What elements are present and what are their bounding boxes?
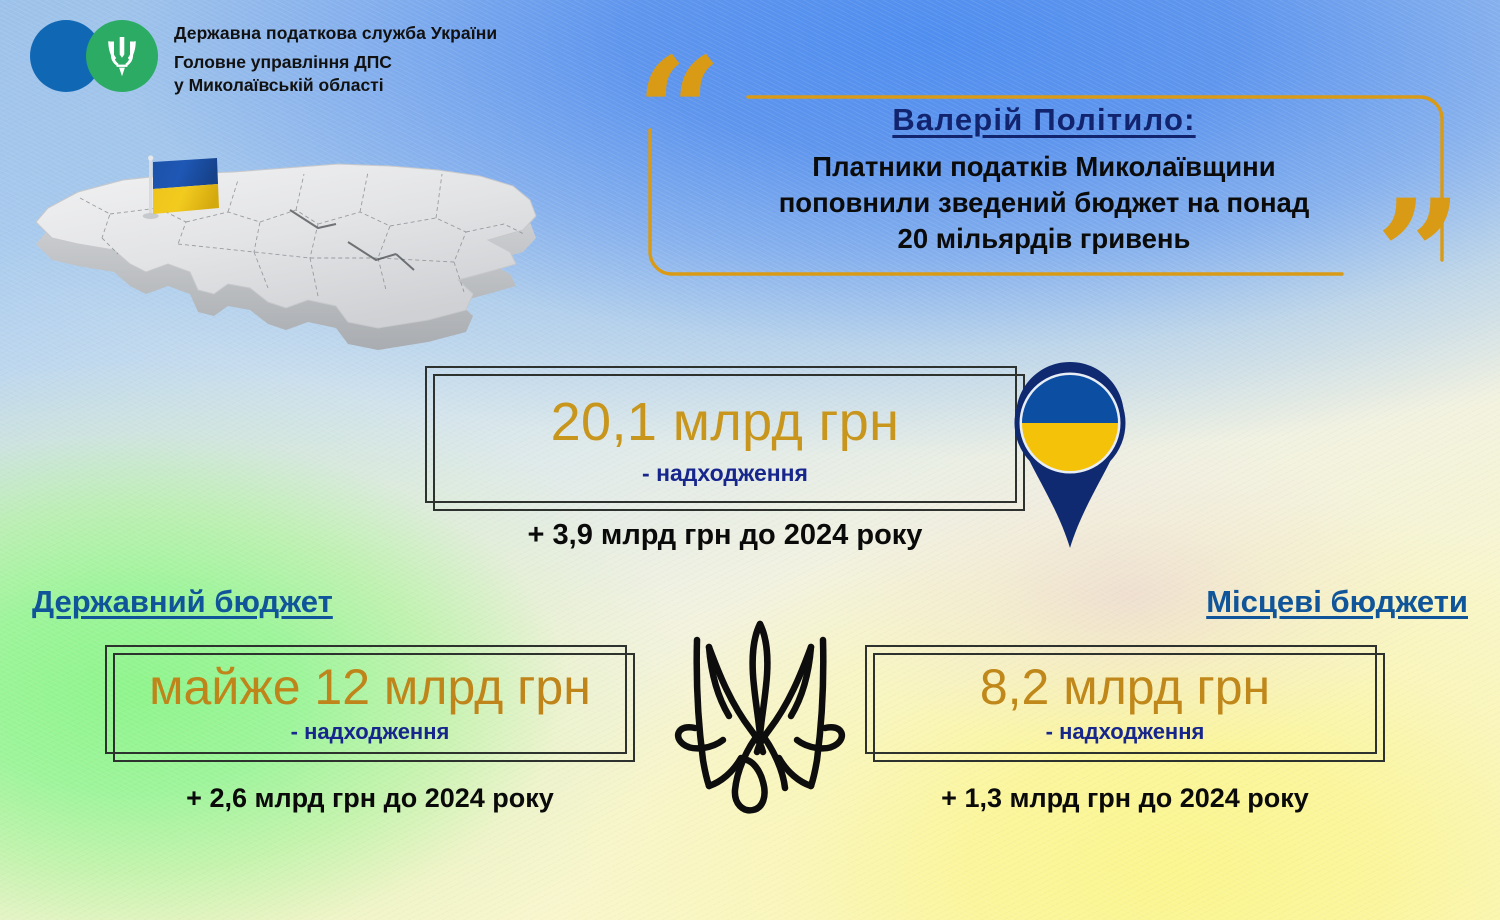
infographic-canvas: Державна податкова служба України Головн… [0, 0, 1500, 920]
org-line-1: Державна податкова служба України [174, 22, 497, 44]
org-name-block: Державна податкова служба України Головн… [174, 14, 497, 97]
quote-callout: “ ” Валерій Політило: Платники податків … [636, 80, 1456, 305]
ukraine-location-pin-icon [1007, 360, 1133, 552]
green-trident-logo-icon [86, 20, 158, 92]
consolidated-delta: + 3,9 млрд грн до 2024 року [425, 519, 1025, 552]
state-budget-title: Державний бюджет [32, 584, 333, 620]
org-line-3: у Миколаївській області [174, 74, 497, 97]
consolidated-budget-frame: 20,1 млрд грн - надходження [425, 366, 1025, 511]
local-budgets-caption: - надходження [1046, 719, 1205, 745]
local-budgets-amount: 8,2 млрд грн [980, 662, 1270, 712]
quote-line-1: Платники податків Миколаївщини [684, 149, 1404, 185]
state-budget-frame: майже 12 млрд грн - надходження [105, 645, 635, 762]
quote-text-block: Валерій Політило: Платники податків Мико… [684, 102, 1404, 256]
local-budgets-frame: 8,2 млрд грн - надходження [865, 645, 1385, 762]
state-budget-caption: - надходження [291, 719, 450, 745]
consolidated-caption: - надходження [642, 460, 808, 487]
quote-line-2: поповнили зведений бюджет на понад [684, 185, 1404, 221]
logo [30, 14, 162, 94]
org-header: Державна податкова служба України Головн… [30, 14, 497, 97]
quote-speaker-name: Валерій Політило: [684, 102, 1404, 138]
ukraine-3d-map-icon [18, 112, 578, 357]
local-budgets-title: Місцеві бюджети [1206, 584, 1468, 620]
state-budget-delta: + 2,6 млрд грн до 2024 року [105, 783, 635, 814]
ukraine-trident-icon [665, 612, 855, 817]
state-budget-amount: майже 12 млрд грн [149, 662, 591, 712]
consolidated-amount: 20,1 млрд грн [551, 394, 900, 451]
quote-line-3: 20 мільярдів гривень [684, 221, 1404, 257]
org-line-2: Головне управління ДПС [174, 51, 497, 74]
local-budgets-delta: + 1,3 млрд грн до 2024 року [865, 783, 1385, 814]
